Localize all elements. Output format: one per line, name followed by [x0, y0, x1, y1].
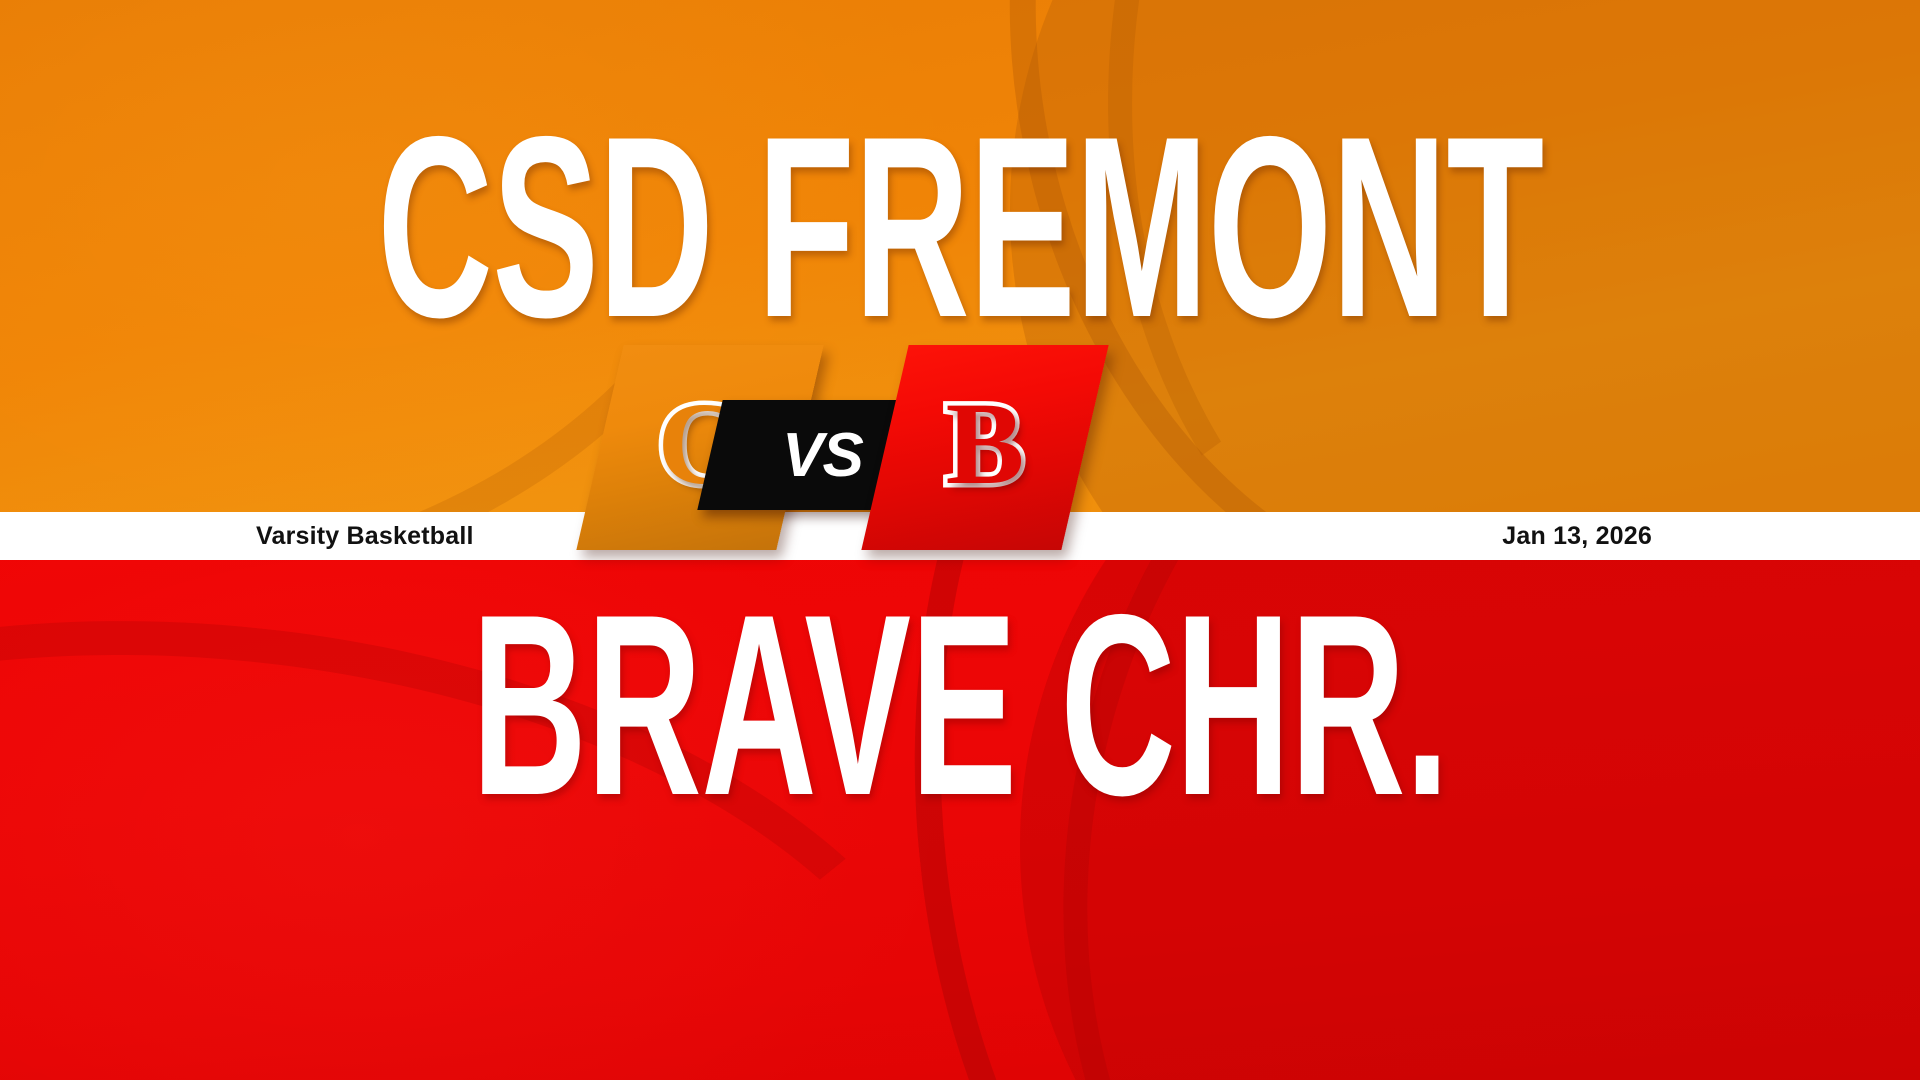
game-date: Jan 13, 2026	[1502, 512, 1652, 560]
versus-badge-cluster: C VS B	[600, 330, 1320, 590]
away-panel-content: B	[885, 345, 1085, 550]
away-team-name: BRAVE CHR.	[0, 576, 1920, 834]
sport-label: Varsity Basketball	[256, 512, 474, 560]
away-team-logo-panel: B	[885, 345, 1085, 550]
home-team-name-text: CSD FREMONT	[377, 98, 1543, 356]
matchup-graphic: CSD FREMONT BRAVE CHR. Varsity Basketbal…	[0, 0, 1920, 1080]
away-team-name-text: BRAVE CHR.	[471, 576, 1448, 834]
away-team-initial: B	[946, 385, 1025, 503]
home-team-name: CSD FREMONT	[0, 98, 1920, 356]
versus-label: VS	[782, 420, 863, 491]
